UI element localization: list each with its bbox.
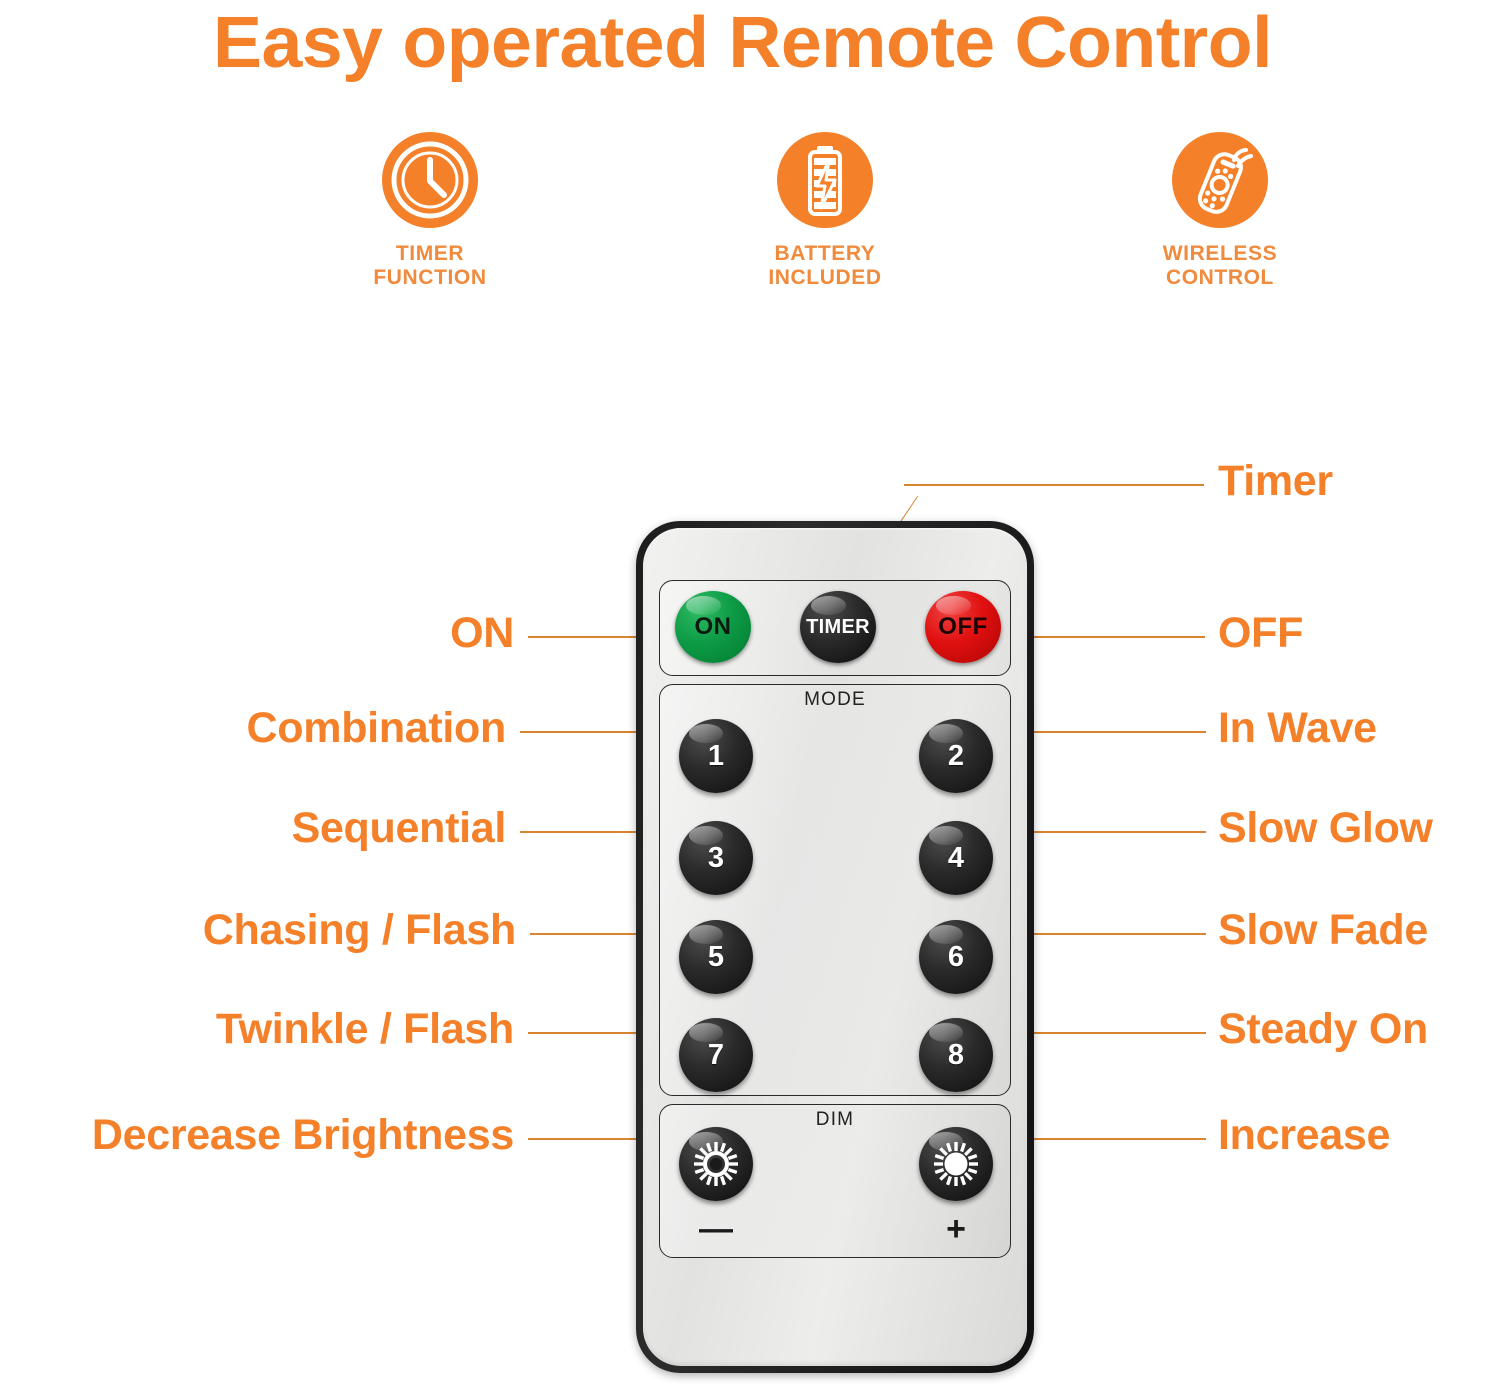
feature-label: WIRELESS CONTROL	[1163, 242, 1277, 290]
mode-button-2[interactable]: 2	[919, 719, 993, 793]
callout-twinkle-flash: Twinkle / Flash	[216, 1008, 514, 1051]
remote-signal-icon	[1172, 132, 1268, 228]
on-button[interactable]: ON	[675, 591, 751, 663]
remote-faceplate: MODE DIM ON TIMER OFF 1 2 3 4 5 6 7 8	[643, 528, 1027, 1366]
callout-steady-on: Steady On	[1218, 1008, 1428, 1051]
remote-control-device: MODE DIM ON TIMER OFF 1 2 3 4 5 6 7 8	[636, 521, 1034, 1373]
dim-increase-button[interactable]	[919, 1127, 993, 1201]
callout-decrease-brightness: Decrease Brightness	[92, 1114, 514, 1157]
feature-label: BATTERY INCLUDED	[768, 242, 881, 290]
mode-button-4[interactable]: 4	[919, 821, 993, 895]
callout-timer: Timer	[1218, 460, 1333, 503]
mode-caption: MODE	[643, 689, 1027, 711]
callout-increase: Increase	[1218, 1114, 1390, 1157]
callout-chasing-flash: Chasing / Flash	[203, 909, 516, 952]
feature-timer-function: TIMER FUNCTION	[300, 132, 560, 290]
callout-combination: Combination	[247, 707, 506, 750]
battery-icon	[777, 132, 873, 228]
clock-icon	[382, 132, 478, 228]
mode-button-6[interactable]: 6	[919, 920, 993, 994]
callout-sequential: Sequential	[292, 807, 506, 850]
callout-on: ON	[450, 612, 514, 655]
feature-badges: TIMER FUNCTION BATTERY INCLUDED	[300, 132, 1350, 317]
callout-off: OFF	[1218, 612, 1303, 655]
timer-function-badge	[382, 132, 478, 228]
dim-plus-sign: +	[919, 1212, 993, 1246]
mode-button-7[interactable]: 7	[679, 1018, 753, 1092]
dim-minus-sign: —	[679, 1212, 753, 1246]
wireless-control-badge	[1172, 132, 1268, 228]
feature-battery-included: BATTERY INCLUDED	[695, 132, 955, 290]
mode-button-8[interactable]: 8	[919, 1018, 993, 1092]
feature-label: TIMER FUNCTION	[373, 242, 486, 290]
mode-button-5[interactable]: 5	[679, 920, 753, 994]
callout-slow-fade: Slow Fade	[1218, 909, 1428, 952]
dim-decrease-button[interactable]	[679, 1127, 753, 1201]
callout-slow-glow: Slow Glow	[1218, 807, 1433, 850]
page-title: Easy operated Remote Control	[0, 0, 1485, 86]
dim-caption: DIM	[643, 1109, 1027, 1131]
feature-wireless-control: WIRELESS CONTROL	[1090, 132, 1350, 290]
brightness-high-icon	[930, 1138, 982, 1190]
battery-included-badge	[777, 132, 873, 228]
mode-button-1[interactable]: 1	[679, 719, 753, 793]
mode-button-3[interactable]: 3	[679, 821, 753, 895]
callout-in-wave: In Wave	[1218, 707, 1377, 750]
off-button[interactable]: OFF	[925, 591, 1001, 663]
timer-button[interactable]: TIMER	[800, 591, 876, 663]
leader-line-timer	[904, 484, 1204, 486]
brightness-low-icon	[690, 1138, 742, 1190]
